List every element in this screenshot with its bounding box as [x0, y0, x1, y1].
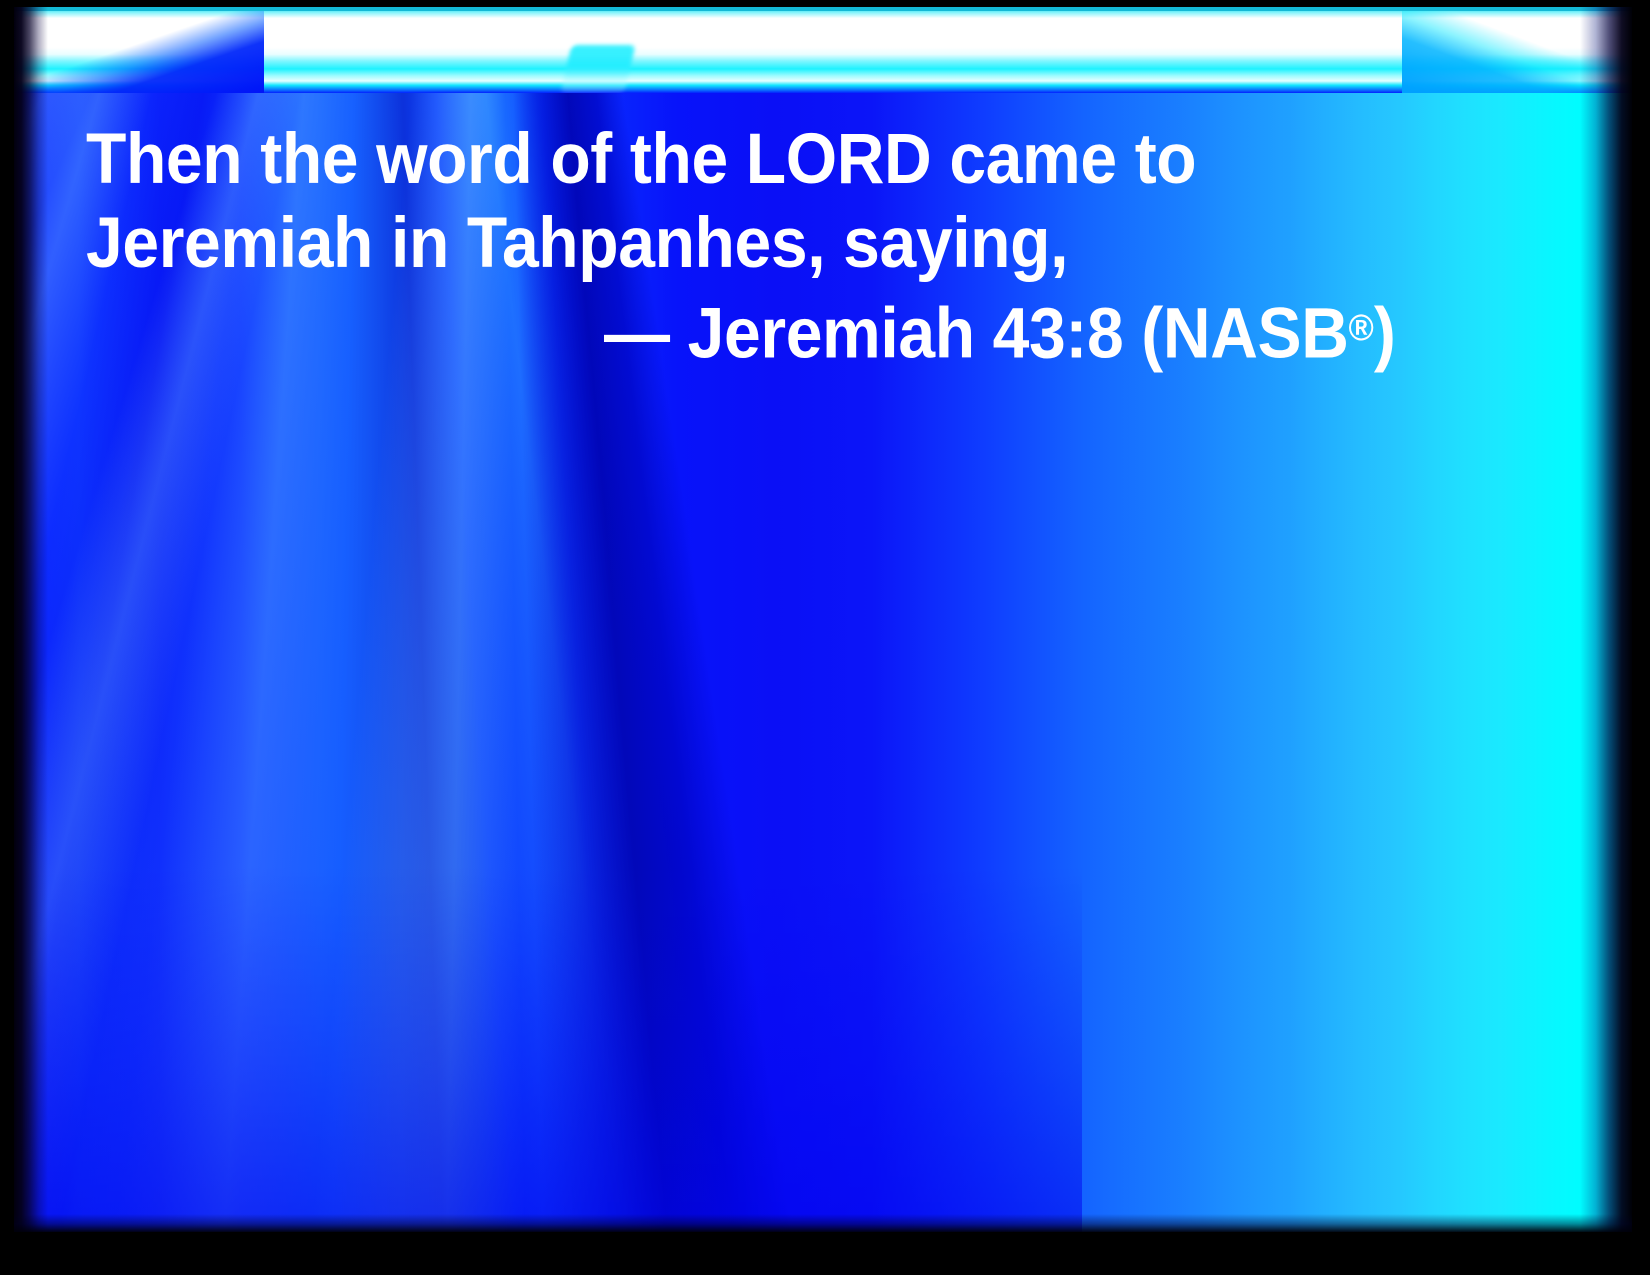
frame-border-right — [1632, 0, 1650, 1275]
frame-border-top — [0, 0, 1650, 7]
frame-border-left — [0, 0, 14, 1275]
frame-border-bottom — [0, 1232, 1650, 1275]
verse-line-2: Jeremiah in Tahpanhes, saying, — [86, 202, 1407, 286]
verse-line-1: Then the word of the LORD came to — [86, 118, 1407, 202]
attribution-em-dash: — — [604, 295, 670, 374]
attribution-close-paren: ) — [1374, 295, 1396, 374]
verse-slide: Then the word of the LORD came to Jeremi… — [0, 0, 1650, 1275]
top-banner-band — [14, 7, 1632, 93]
top-banner-right-taper — [1402, 7, 1632, 93]
registered-trademark-icon: ® — [1349, 307, 1374, 348]
verse-text-block: Then the word of the LORD came to Jeremi… — [86, 118, 1407, 377]
top-banner-notch — [560, 45, 635, 93]
verse-attribution: — Jeremiah 43:8 (NASB®) — [86, 286, 1407, 377]
top-banner-hairline — [14, 7, 1632, 11]
top-banner-left-taper — [14, 7, 264, 93]
attribution-reference: Jeremiah 43:8 (NASB — [688, 295, 1349, 374]
background-bottom-pool — [14, 865, 1082, 1233]
